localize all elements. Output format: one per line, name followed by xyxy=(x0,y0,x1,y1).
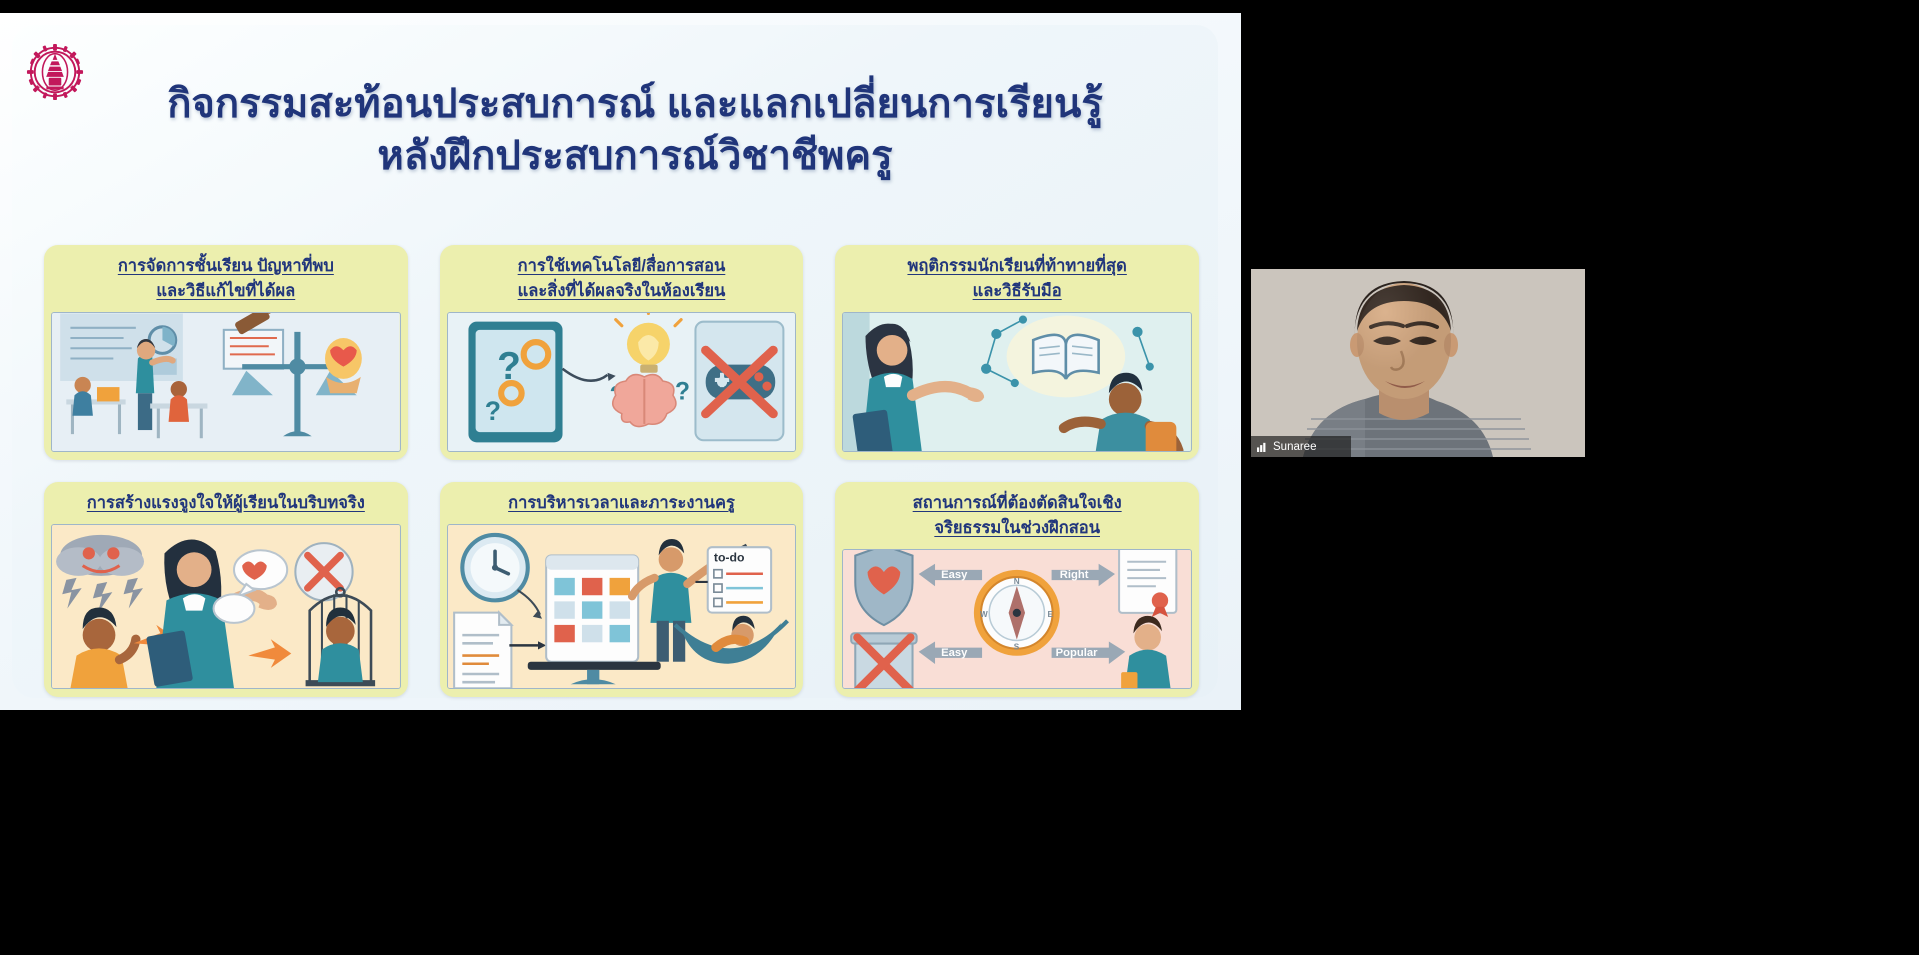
screen-share-stage: กิจกรรมสะท้อนประสบการณ์ และแลกเปลี่ยนการ… xyxy=(0,0,1919,955)
svg-text:S: S xyxy=(1014,643,1020,652)
card-title: การบริหารเวลาและภาระงานครู xyxy=(502,491,741,518)
svg-text:N: N xyxy=(1014,577,1020,586)
slide-title-line1: กิจกรรมสะท้อนประสบการณ์ และแลกเปลี่ยนการ… xyxy=(90,79,1180,129)
card-title-line2: และวิธีรับมือ xyxy=(907,279,1126,304)
university-emblem-icon xyxy=(26,43,84,101)
svg-text:E: E xyxy=(1048,610,1054,619)
slide-title-line2: หลังฝึกประสบการณ์วิชาชีพครู xyxy=(90,129,1180,183)
compass-ethics-illustration: Easy Easy Right Popular xyxy=(842,549,1192,689)
card-title-line1: พฤติกรรมนักเรียนที่ท้าทายที่สุด xyxy=(907,254,1126,279)
slide-title: กิจกรรมสะท้อนประสบการณ์ และแลกเปลี่ยนการ… xyxy=(90,79,1180,183)
todo-label: to-do xyxy=(714,551,745,565)
card-title-line1: สถานการณ์ที่ต้องตัดสินใจเชิง xyxy=(913,491,1122,516)
card-title-line2: จริยธรรมในช่วงฝึกสอน xyxy=(913,516,1122,541)
easy-top-label: Easy xyxy=(941,569,968,581)
teacher-student-book-illustration xyxy=(842,312,1192,452)
card-title: การใช้เทคโนโลยี/สื่อการสอน และสิ่งที่ได้… xyxy=(512,254,732,306)
card-title-line1: การจัดการชั้นเรียน ปัญหาที่พบ xyxy=(118,254,334,279)
svg-text:W: W xyxy=(980,610,988,619)
svg-text:?: ? xyxy=(484,396,500,426)
right-label: Right xyxy=(1060,569,1089,581)
motivation-cage-illustration xyxy=(51,524,401,689)
card-title: การจัดการชั้นเรียน ปัญหาที่พบ และวิธีแก้… xyxy=(112,254,340,306)
card-title-line2: และสิ่งที่ได้ผลจริงในห้องเรียน xyxy=(518,279,726,304)
popular-label: Popular xyxy=(1056,647,1098,659)
participant-name: Sunaree xyxy=(1273,441,1316,453)
card-title-line2: และวิธีแก้ไขที่ได้ผล xyxy=(118,279,334,304)
card-title-line1: การสร้างแรงจูงใจให้ผู้เรียนในบริบทจริง xyxy=(87,491,365,516)
topic-card-classroom-management: การจัดการชั้นเรียน ปัญหาที่พบ และวิธีแก้… xyxy=(44,245,408,460)
card-title: การสร้างแรงจูงใจให้ผู้เรียนในบริบทจริง xyxy=(81,491,371,518)
classroom-scale-illustration xyxy=(51,312,401,452)
topic-card-technology-media: การใช้เทคโนโลยี/สื่อการสอน และสิ่งที่ได้… xyxy=(440,245,804,460)
topic-card-time-workload-management: การบริหารเวลาและภาระงานครู xyxy=(440,482,804,697)
participant-video-feed xyxy=(1251,269,1585,457)
topic-card-ethical-decision: สถานการณ์ที่ต้องตัดสินใจเชิง จริยธรรมในช… xyxy=(835,482,1199,697)
card-title-line1: การใช้เทคโนโลยี/สื่อการสอน xyxy=(518,254,726,279)
clock-calendar-balance-illustration: to-do xyxy=(447,524,797,689)
mic-level-icon xyxy=(1257,441,1268,452)
svg-text:?: ? xyxy=(675,378,690,405)
card-title-line1: การบริหารเวลาและภาระงานครู xyxy=(508,491,735,516)
topic-card-grid: การจัดการชั้นเรียน ปัญหาที่พบ และวิธีแก้… xyxy=(44,245,1199,697)
easy-bottom-label: Easy xyxy=(941,647,968,659)
topic-card-student-behavior: พฤติกรรมนักเรียนที่ท้าทายที่สุด และวิธีร… xyxy=(835,245,1199,460)
tablet-brain-gamepad-illustration: ? ? xyxy=(447,312,797,452)
participant-name-badge: Sunaree xyxy=(1251,436,1351,457)
topic-card-motivation-real-context: การสร้างแรงจูงใจให้ผู้เรียนในบริบทจริง xyxy=(44,482,408,697)
card-title: พฤติกรรมนักเรียนที่ท้าทายที่สุด และวิธีร… xyxy=(901,254,1132,306)
participant-video-tile[interactable]: Sunaree xyxy=(1251,269,1585,457)
card-title: สถานการณ์ที่ต้องตัดสินใจเชิง จริยธรรมในช… xyxy=(907,491,1128,543)
presentation-slide: กิจกรรมสะท้อนประสบการณ์ และแลกเปลี่ยนการ… xyxy=(0,13,1241,710)
